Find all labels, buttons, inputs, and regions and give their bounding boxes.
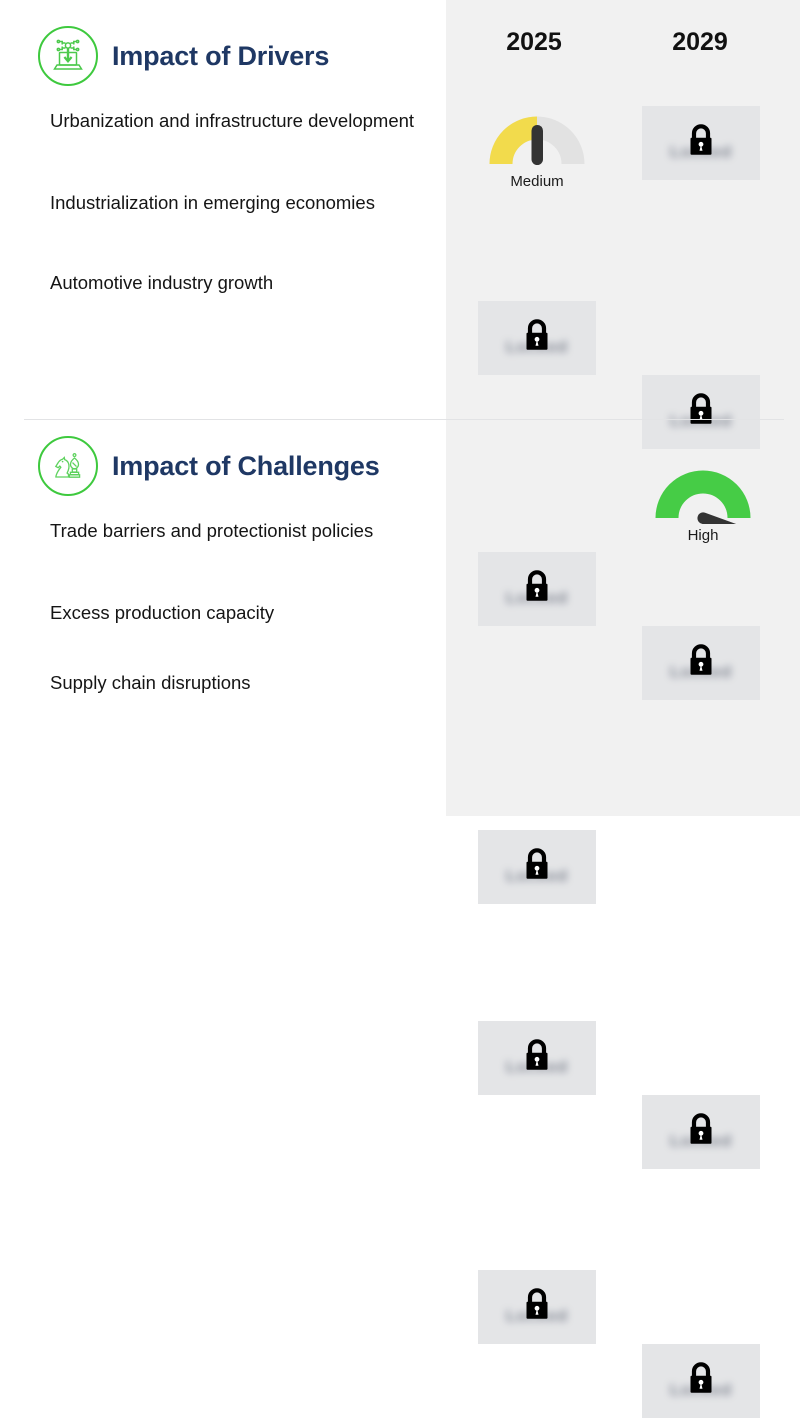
column-header-2025: 2025 [474, 24, 594, 60]
impact-matrix-infographic: 2025 2029 Impact of Drivers Urb [0, 0, 800, 833]
driver-item-1: Industrialization in emerging economies [50, 190, 420, 216]
lock-icon [520, 846, 554, 886]
gauge-challenges-row0-2029: High [644, 462, 762, 548]
challenge-item-0: Trade barriers and protectionist policie… [50, 518, 420, 544]
section-header-drivers: Impact of Drivers [38, 26, 329, 86]
driver-item-2: Automotive industry growth [50, 270, 420, 296]
locked-cell-drivers-row2-2025[interactable]: Locked [478, 552, 596, 626]
lock-icon [684, 391, 718, 431]
section-title-challenges: Impact of Challenges [112, 451, 380, 482]
chess-pieces-icon [38, 436, 98, 496]
column-header-2029: 2029 [640, 24, 760, 60]
section-header-challenges: Impact of Challenges [38, 436, 380, 496]
gauge-medium-dial [478, 108, 596, 170]
locked-cell-challenges-row2-2029[interactable]: Locked [642, 1344, 760, 1418]
locked-cell-drivers-row1-2029[interactable]: Locked [642, 375, 760, 449]
lock-icon [520, 1286, 554, 1326]
locked-cell-challenges-row0-2025[interactable]: Locked [478, 830, 596, 904]
locked-cell-drivers-row1-2025[interactable]: Locked [478, 301, 596, 375]
laptop-download-circuit-icon [38, 26, 98, 86]
gauge-label-high: High [644, 527, 762, 544]
lock-icon [520, 568, 554, 608]
gauge-high-dial [644, 462, 762, 524]
lock-icon [684, 1360, 718, 1400]
locked-cell-challenges-row1-2029[interactable]: Locked [642, 1095, 760, 1169]
lock-icon [520, 1037, 554, 1077]
gauge-label-medium: Medium [478, 173, 596, 190]
lock-icon [520, 317, 554, 357]
locked-cell-drivers-row0-2029[interactable]: Locked [642, 106, 760, 180]
section-title-drivers: Impact of Drivers [112, 41, 329, 72]
locked-cell-challenges-row2-2025[interactable]: Locked [478, 1270, 596, 1344]
lock-icon [684, 642, 718, 682]
challenge-item-2: Supply chain disruptions [50, 670, 420, 696]
locked-cell-challenges-row1-2025[interactable]: Locked [478, 1021, 596, 1095]
challenge-item-1: Excess production capacity [50, 600, 420, 626]
locked-cell-drivers-row2-2029[interactable]: Locked [642, 626, 760, 700]
gauge-drivers-row0-2025: Medium [478, 108, 596, 194]
driver-item-0: Urbanization and infrastructure developm… [50, 108, 420, 134]
lock-icon [684, 122, 718, 162]
section-divider [24, 419, 784, 420]
lock-icon [684, 1111, 718, 1151]
